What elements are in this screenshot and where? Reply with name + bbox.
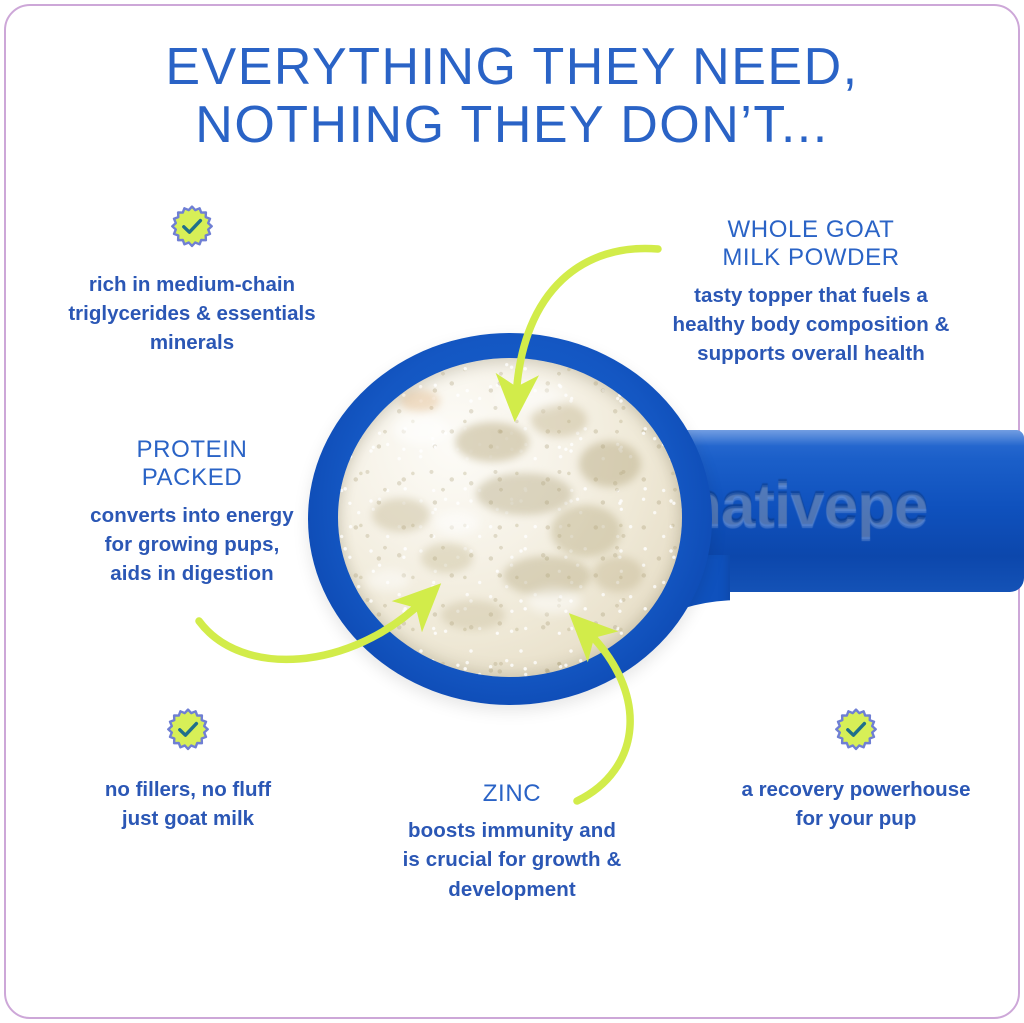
callout-heading-line-1: ZINC <box>368 780 656 808</box>
callout-body-line-2: is crucial for growth & <box>368 845 656 874</box>
feature-line-3: minerals <box>32 328 352 357</box>
callout-body-line-3: supports overall health <box>620 339 1002 368</box>
feature-line-2: for your pup <box>700 804 1012 833</box>
feature-line-2: just goat milk <box>38 804 338 833</box>
callout-heading: ZINC <box>368 780 656 808</box>
callout-body-line-1: boosts immunity and <box>368 816 656 845</box>
callout-zinc: ZINC boosts immunity and is crucial for … <box>368 780 656 904</box>
feature-line-1: a recovery powerhouse <box>700 775 1012 804</box>
callout-heading: PROTEIN PACKED <box>48 436 336 493</box>
scoop-handle-embossed-text: nativepe <box>684 470 928 541</box>
title-line-1: EVERYTHING THEY NEED, <box>0 38 1024 96</box>
callout-body-line-3: development <box>368 875 656 904</box>
callout-body: boosts immunity and is crucial for growt… <box>368 816 656 903</box>
title-line-2: NOTHING THEY DON’T... <box>0 96 1024 154</box>
arrow-to-powder-bottom <box>577 630 630 801</box>
callout-body-line-1: converts into energy <box>48 501 336 530</box>
callout-body-line-3: aids in digestion <box>48 559 336 588</box>
scoop-handle: nativepe <box>640 430 1024 592</box>
feature-text: no fillers, no fluff just goat milk <box>38 775 338 833</box>
feature-line-2: triglycerides & essentials <box>32 299 352 328</box>
feature-no-fillers: no fillers, no fluff just goat milk <box>38 708 338 833</box>
callout-body-line-2: healthy body composition & <box>620 310 1002 339</box>
callout-heading: WHOLE GOAT MILK POWDER <box>620 216 1002 273</box>
feature-line-1: no fillers, no fluff <box>38 775 338 804</box>
feature-mct-minerals: rich in medium-chain triglycerides & ess… <box>32 205 352 357</box>
scoop-handle-curve-mask <box>620 600 740 670</box>
callout-body-line-1: tasty topper that fuels a <box>620 281 1002 310</box>
infographic-root: EVERYTHING THEY NEED, NOTHING THEY DON’T… <box>0 0 1024 1023</box>
callout-whole-goat-milk-powder: WHOLE GOAT MILK POWDER tasty topper that… <box>620 216 1002 368</box>
scoop-handle-curve <box>620 555 730 645</box>
feature-text: rich in medium-chain triglycerides & ess… <box>32 270 352 357</box>
page-title: EVERYTHING THEY NEED, NOTHING THEY DON’T… <box>0 38 1024 154</box>
check-badge-icon <box>834 708 878 752</box>
feature-text: a recovery powerhouse for your pup <box>700 775 1012 833</box>
arrow-to-powder-left <box>199 600 424 659</box>
check-badge-icon <box>170 205 214 249</box>
callout-heading-line-1: WHOLE GOAT <box>620 216 1002 244</box>
feature-line-1: rich in medium-chain <box>32 270 352 299</box>
scoop-bowl <box>308 333 712 705</box>
callout-body: tasty topper that fuels a healthy body c… <box>620 281 1002 368</box>
callout-body: converts into energy for growing pups, a… <box>48 501 336 588</box>
callout-heading-line-2: MILK POWDER <box>620 244 1002 272</box>
callout-body-line-2: for growing pups, <box>48 530 336 559</box>
callout-protein-packed: PROTEIN PACKED converts into energy for … <box>48 436 336 588</box>
scoop-powder <box>338 358 682 677</box>
powder-grain-texture <box>338 358 682 677</box>
callout-heading-line-1: PROTEIN <box>48 436 336 464</box>
callout-heading-line-2: PACKED <box>48 464 336 492</box>
feature-recovery-powerhouse: a recovery powerhouse for your pup <box>700 708 1012 833</box>
check-badge-icon <box>166 708 210 752</box>
